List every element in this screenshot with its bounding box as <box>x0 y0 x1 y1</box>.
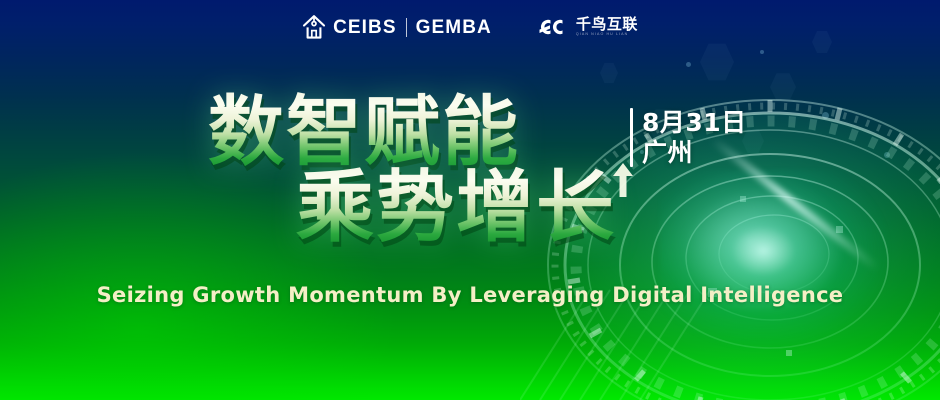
ceibs-logo[interactable]: CEIBS GEMBA <box>302 14 492 40</box>
partner-wordmark-group: 千鸟互联 QIAN NIAO HU LIAN <box>576 17 638 37</box>
date-accent-bar <box>630 108 633 167</box>
event-banner: CEIBS GEMBA 千鸟互联 QIAN NIAO HU LIAN 数智赋能 … <box>0 0 940 400</box>
ceibs-wordmark: CEIBS <box>333 18 397 37</box>
headline-line-2: 乘势增长 <box>296 167 616 250</box>
house-pagoda-icon <box>302 14 326 40</box>
date-text-group: 8月31日 广州 <box>642 108 747 167</box>
subtitle: Seizing Growth Momentum By Leveraging Di… <box>0 283 940 307</box>
qianniao-c-mark-icon <box>538 17 570 37</box>
headline-row-2: 乘势增长 <box>0 167 940 250</box>
headline-line-1: 数智赋能 <box>208 92 520 173</box>
partner-name-cn: 千鸟互联 <box>576 17 638 32</box>
event-date-location: 8月31日 广州 <box>630 108 747 167</box>
particle-dot <box>760 50 764 54</box>
particle-dot <box>686 62 691 67</box>
logo-divider <box>406 18 407 37</box>
partner-logo[interactable]: 千鸟互联 QIAN NIAO HU LIAN <box>538 17 638 37</box>
event-date: 8月31日 <box>642 108 747 138</box>
partner-name-en: QIAN NIAO HU LIAN <box>576 33 628 37</box>
logo-bar: CEIBS GEMBA 千鸟互联 QIAN NIAO HU LIAN <box>0 10 940 44</box>
event-city: 广州 <box>642 138 747 168</box>
gemba-wordmark: GEMBA <box>416 18 492 37</box>
headline-block: 数智赋能 乘势增长 <box>0 92 940 249</box>
headline-row-1: 数智赋能 <box>0 92 940 173</box>
